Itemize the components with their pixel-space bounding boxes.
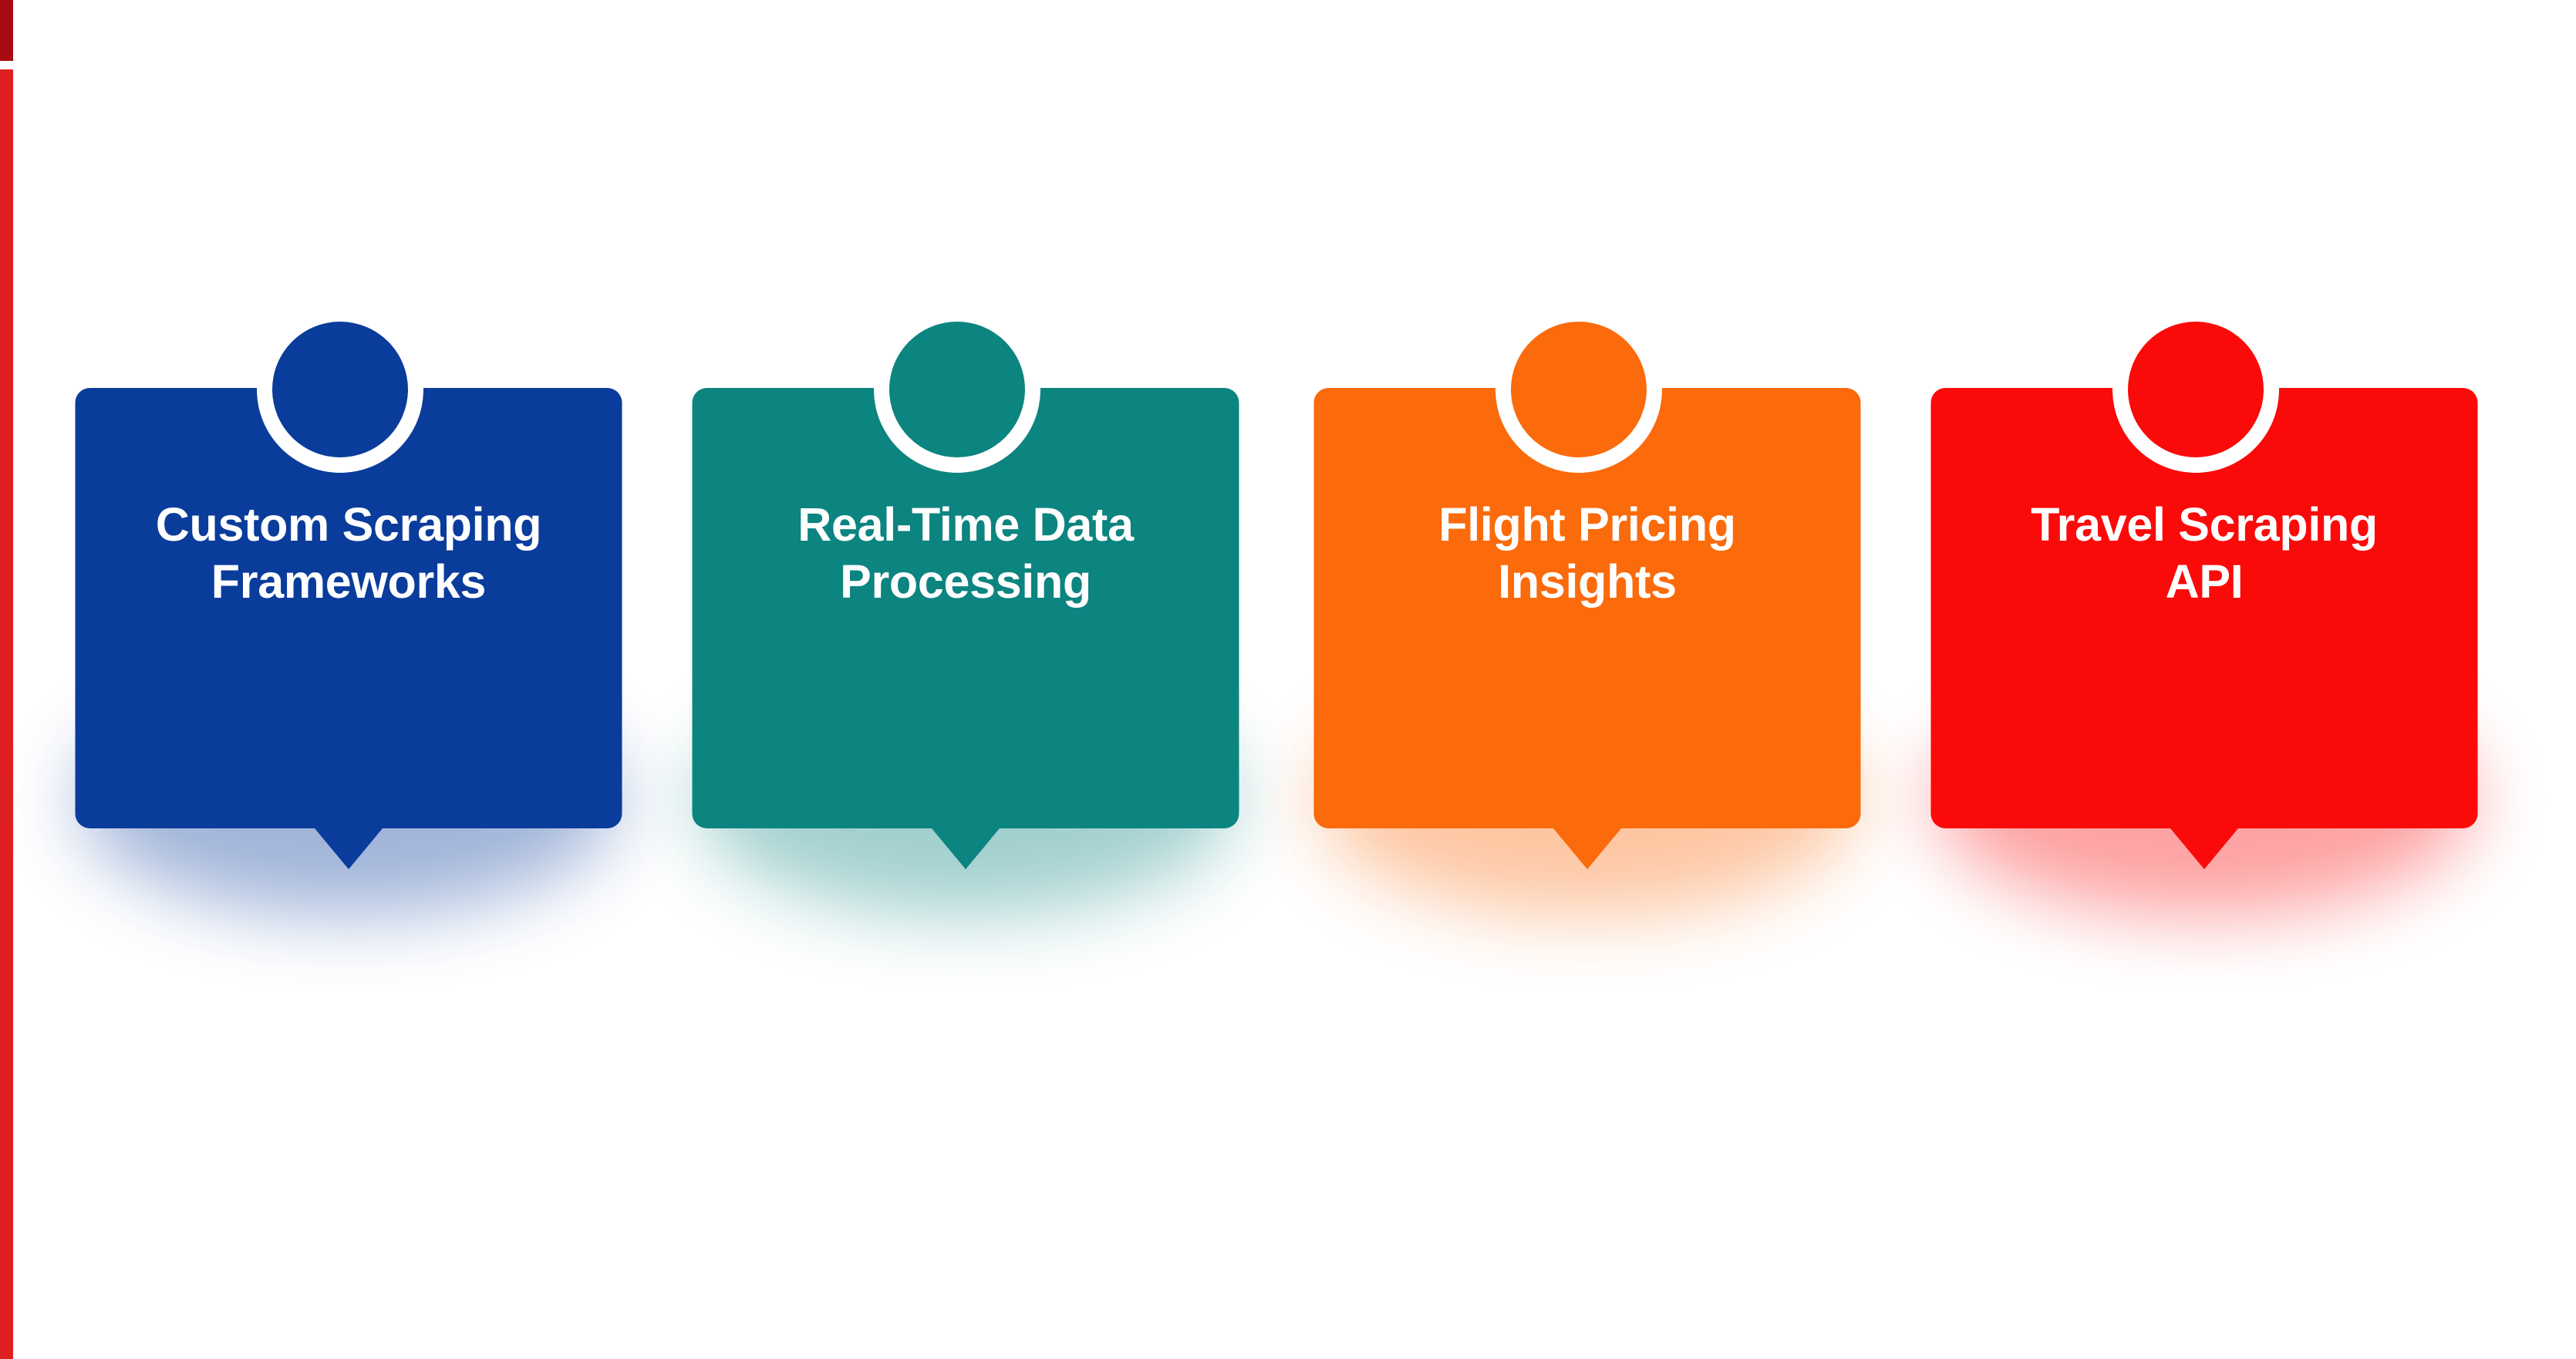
card-tail-pointer (1553, 828, 1621, 869)
card-label: Real-Time Data Processing (673, 496, 1259, 611)
card-label: Travel Scraping API (1911, 496, 2497, 611)
card-flight-pricing-insights[interactable]: Flight Pricing Insights (1294, 322, 1880, 908)
circle-badge-icon (889, 322, 1025, 457)
card-real-time-data-processing[interactable]: Real-Time Data Processing (673, 322, 1259, 908)
circle-badge-icon (2128, 322, 2264, 457)
card-tail-pointer (2170, 828, 2238, 869)
card-row: Custom Scraping Frameworks Real-Time Dat… (0, 0, 2576, 1359)
card-custom-scraping-frameworks[interactable]: Custom Scraping Frameworks (56, 322, 642, 908)
card-travel-scraping-api[interactable]: Travel Scraping API (1911, 322, 2497, 908)
circle-badge-icon (272, 322, 408, 457)
infographic-canvas: Custom Scraping Frameworks Real-Time Dat… (0, 0, 2576, 1359)
card-tail-pointer (315, 828, 383, 869)
card-tail-pointer (932, 828, 1000, 869)
card-label: Flight Pricing Insights (1294, 496, 1880, 611)
circle-badge-icon (1511, 322, 1647, 457)
card-label: Custom Scraping Frameworks (56, 496, 642, 611)
